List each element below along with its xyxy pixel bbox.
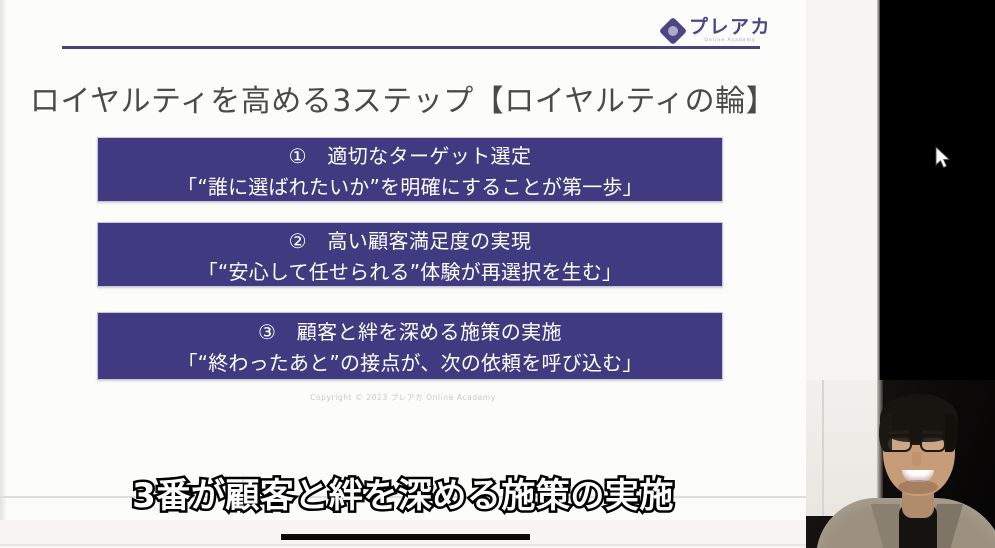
presenter-glasses-right-lens [920,436,946,452]
brand-subtitle: Online Academy [689,39,771,43]
webcam-backdrop-panel [806,380,878,516]
header-divider-rule [62,46,760,49]
caption-bottom-rule [0,544,806,546]
presenter-webcam-overlay[interactable] [806,380,995,548]
slide-copyright: Copyright © 2023 プレアカ Online Academy [0,392,806,403]
diamond-logo-icon [659,17,687,45]
presentation-slide: プレアカ Online Academy ロイヤルティを高める3ステップ【ロイヤル… [0,0,806,520]
step-3-subtext: 「“終わったあと”の接点が、次の依頼を呼び込む」 [177,347,642,376]
screen-capture-stage: プレアカ Online Academy ロイヤルティを高める3ステップ【ロイヤル… [0,0,995,548]
presenter-hair-right [945,414,958,452]
brand-logo-text: プレアカ Online Academy [689,18,771,43]
slide-viewer[interactable]: プレアカ Online Academy ロイヤルティを高める3ステップ【ロイヤル… [0,0,880,548]
presenter-nose [912,452,921,466]
presenter-glasses-bridge [912,442,920,445]
presenter-chin-shadow [898,480,938,494]
caption-underline-bar [281,534,530,540]
step-1-heading: ① 適切なターゲット選定 [289,140,532,169]
webcam-panel-seam [822,380,824,516]
step-box-2: ② 高い顧客満足度の実現 「“安心して任せられる”体験が再選択を生む」 [97,222,723,287]
step-3-heading: ③ 顧客と絆を深める施策の実施 [258,316,562,345]
arrow-cursor-icon [935,146,951,170]
step-2-heading: ② 高い顧客満足度の実現 [289,225,532,254]
slide-title: ロイヤルティを高める3ステップ【ロイヤルティの輪】 [0,76,806,120]
step-box-1: ① 適切なターゲット選定 「“誰に選ばれたいか”を明確にすることが第一歩」 [97,137,723,202]
step-1-subtext: 「“誰に選ばれたいか”を明確にすることが第一歩」 [177,171,643,200]
video-caption-text: 3番が顧客と絆を深める施策の実施 [0,468,806,517]
step-2-subtext: 「“安心して任せられる”体験が再選択を生む」 [198,256,623,285]
brand-name: プレアカ [689,18,771,37]
brand-logo: プレアカ Online Academy [663,18,771,43]
step-box-3: ③ 顧客と絆を深める施策の実施 「“終わったあと”の接点が、次の依頼を呼び込む」 [97,312,723,380]
presenter-glasses-left-lens [886,436,912,452]
